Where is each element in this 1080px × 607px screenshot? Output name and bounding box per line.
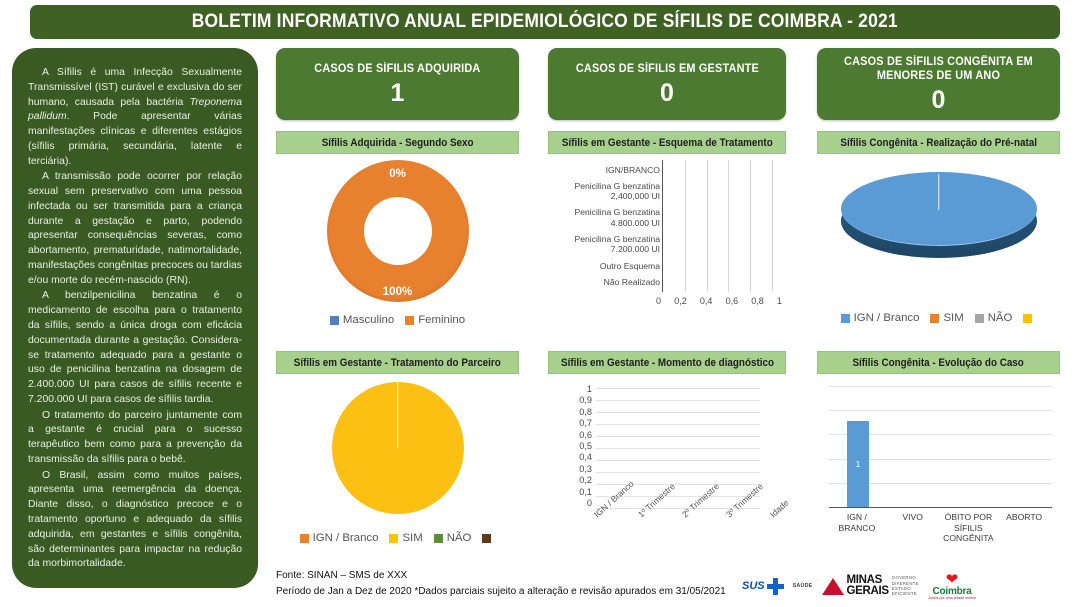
bar-chart: 1 IGN / BRANCO VIVO ÓBITO POR SÍFILIS CO… [817,378,1060,556]
sidebar-paragraph-1-text: A Sífilis é uma Infecção Sexualmente Tra… [28,67,242,167]
gridline [596,472,760,473]
chart-adquirida-segundo-sexo: 0% 100% Masculino Feminino [276,158,519,344]
governo-line2: DIFERENTE [892,581,919,586]
category-axis: IGN/BRANCO Penicilina G benzatina 2,400,… [548,162,660,290]
chart-gestante-tratamento-parceiro: IGN / Branco SIM NÃO [276,378,519,560]
panel-title-congenita-prenatal: Sífilis Congênita - Realização do Pré-na… [817,131,1060,154]
panel-title-adquirida-sexo: Sífilis Adquirida - Segundo Sexo [276,131,519,154]
dashboard-page: BOLETIM INFORMATIVO ANUAL EPIDEMIOLÓGICO… [0,0,1080,607]
y-tick: 1 [587,384,592,394]
medical-cross-icon [767,578,784,595]
legend-item-sim: SIM [930,312,963,324]
sidebar-paragraph-2: A transmissão pode ocorrer por relação s… [28,170,242,288]
x-tick: 0,2 [674,296,687,306]
pie-3d-chart [817,158,1060,308]
chart-legend: Masculino Feminino [276,314,519,326]
x-tick: 0 [656,296,661,306]
minas-gerais-text: MINAS GERAIS [847,575,889,597]
pie-chart [276,378,519,528]
kpi-card-sifilis-congenita: CASOS DE SÍFILIS CONGÊNITA EM MENORES DE… [817,48,1060,120]
plot-area: 1 [829,386,1052,508]
panel-title-text: Sífilis em Gestante - Momento de diagnós… [561,357,774,369]
gridline [596,400,760,401]
legend-swatch-icon [841,314,850,323]
heart-icon: ❤ [928,572,976,587]
gridline [596,412,760,413]
category-label: Não Realizado [548,277,660,287]
kpi-label: CASOS DE SÍFILIS ADQUIRIDA [314,62,480,76]
y-tick: 0,8 [579,407,592,417]
category-label: Outro Esquema [548,261,660,271]
y-tick: 0,7 [579,418,592,428]
gridline [596,448,760,449]
chart-legend: IGN / Branco SIM NÃO [817,312,1060,324]
page-header: BOLETIM INFORMATIVO ANUAL EPIDEMIOLÓGICO… [30,5,1060,39]
y-tick: 0,4 [579,452,592,462]
chart-congenita-evolucao-caso: 1 IGN / BRANCO VIVO ÓBITO POR SÍFILIS CO… [817,378,1060,560]
governo-slogan: GOVERNO DIFERENTE ESTADO EFICIENTE [892,575,919,596]
legend-label: SIM [402,532,422,544]
coimbra-logo: ❤ Coimbra Juntos por uma cidade melhor [928,572,976,601]
legend-item-ign-branco: IGN / Branco [841,312,920,324]
gridline [685,160,686,292]
minas-gerais-logo: MINAS GERAIS GOVERNO DIFERENTE ESTADO EF… [822,575,919,597]
x-tick: 1 [777,296,782,306]
info-sidebar: A Sífilis é uma Infecção Sexualmente Tra… [12,48,258,588]
legend-item-feminino: Feminino [405,314,465,326]
sidebar-paragraph-3: A benzilpenicilina benzatina é o medicam… [28,289,242,407]
gridline [829,386,1052,387]
y-tick: 0,9 [579,395,592,405]
legend-label: NÃO [988,312,1013,324]
panel-title-gestante-momento: Sífilis em Gestante - Momento de diagnós… [548,351,786,374]
donut-label-masculino: 0% [389,168,406,180]
legend-item-extra [1023,314,1036,323]
category-label: IGN/BRANCO [548,165,660,175]
panel-title-text: Sífilis em Gestante - Esquema de Tratame… [562,137,773,149]
kpi-value: 0 [660,81,674,106]
x-label: ABORTO [996,512,1052,544]
legend-swatch-icon [482,534,491,543]
kpi-value: 0 [932,88,946,113]
gridline [596,460,760,461]
sus-logo-text: SUS [742,580,765,592]
donut-chart: 0% 100% [276,158,519,310]
legend-item-nao: NÃO [434,532,472,544]
x-tick: 0,8 [751,296,764,306]
legend-swatch-icon [1023,314,1032,323]
chart-legend: IGN / Branco SIM NÃO [276,532,519,544]
footer-logos: SUS SAÚDE MINAS GERAIS GOVERNO DIFERENTE… [742,570,1062,602]
y-tick: 0,2 [579,475,592,485]
panel-title-text: Sífilis Congênita - Evolução do Caso [853,357,1024,369]
legend-item-ign-branco: IGN / Branco [300,532,379,544]
legend-swatch-icon [389,534,398,543]
legend-label: Masculino [343,314,394,326]
legend-swatch-icon [434,534,443,543]
kpi-value: 1 [391,81,405,106]
footer: Fonte: SINAN – SMS de XXX Período de Jan… [276,568,726,599]
donut-label-feminino: 100% [383,286,412,298]
gridline [596,388,760,389]
x-label: Idade [768,498,791,520]
legend-item-extra [482,534,495,543]
y-tick: 0,6 [579,430,592,440]
gridline [596,424,760,425]
y-tick: 0 [587,498,592,508]
legend-swatch-icon [405,316,414,325]
pie-start-line [397,382,399,448]
legend-item-masculino: Masculino [330,314,394,326]
governo-line3: ESTADO [892,586,911,591]
chart-congenita-pre-natal: IGN / Branco SIM NÃO [817,158,1060,344]
gridline [596,436,760,437]
legend-label: Feminino [418,314,465,326]
donut-slice-feminino [327,160,469,302]
legend-item-nao: NÃO [975,312,1013,324]
saude-label: SAÚDE [793,583,813,589]
x-label: IGN / BRANCO [829,512,885,544]
sus-logo: SUS [742,578,784,595]
panel-title-gestante-parceiro: Sífilis em Gestante - Tratamento do Parc… [276,351,519,374]
triangle-icon [822,578,844,595]
panel-title-text: Sífilis Congênita - Realização do Pré-na… [840,137,1037,149]
y-axis-ticks: 1 0,9 0,8 0,7 0,6 0,5 0,4 0,3 0,2 0,1 0 [566,384,592,508]
bar-ign-branco: 1 [847,421,869,507]
pie-3d-start-line [938,174,940,210]
plot-area [662,160,772,292]
legend-label: IGN / Branco [854,312,920,324]
y-tick: 0,1 [579,487,592,497]
gridline [728,160,729,292]
category-label: Penicilina G benzatina 7.200.000 UI [548,234,660,255]
kpi-label: CASOS DE SÍFILIS CONGÊNITA EM MENORES DE… [828,55,1049,84]
panel-title-text: Sífilis em Gestante - Tratamento do Parc… [294,357,501,369]
x-tick: 0,4 [700,296,713,306]
x-label: ÓBITO POR SÍFILIS CONGÊNITA [941,512,997,544]
legend-swatch-icon [930,314,939,323]
x-axis-labels: IGN / BRANCO VIVO ÓBITO POR SÍFILIS CONG… [829,512,1052,544]
x-tick: 0,6 [726,296,739,306]
legend-label: IGN / Branco [313,532,379,544]
legend-swatch-icon [300,534,309,543]
footer-source: Fonte: SINAN – SMS de XXX [276,568,726,584]
coimbra-slogan: Juntos por uma cidade melhor [928,597,976,601]
governo-line1: GOVERNO [892,575,916,580]
legend-swatch-icon [975,314,984,323]
footer-period: Período de Jan a Dez de 2020 *Dados parc… [276,584,726,600]
kpi-label: CASOS DE SÍFILIS EM GESTANTE [575,62,758,76]
gridline [829,410,1052,411]
sidebar-paragraph-1: A Sífilis é uma Infecção Sexualmente Tra… [28,66,242,169]
gridline [707,160,708,292]
y-tick: 0,5 [579,441,592,451]
gridline [772,160,773,292]
panel-title-gestante-esquema: Sífilis em Gestante - Esquema de Tratame… [548,131,786,154]
legend-label: SIM [943,312,963,324]
kpi-card-sifilis-gestante: CASOS DE SÍFILIS EM GESTANTE 0 [548,48,786,120]
minas-line2: GERAIS [847,585,889,597]
y-tick: 0,3 [579,464,592,474]
donut-hole [364,197,432,265]
category-label: Penicilina G benzatina 2,400,000 UI [548,181,660,202]
legend-swatch-icon [330,316,339,325]
panel-title-congenita-evolucao: Sífilis Congênita - Evolução do Caso [817,351,1060,374]
page-title: BOLETIM INFORMATIVO ANUAL EPIDEMIOLÓGICO… [192,11,898,33]
legend-item-sim: SIM [389,532,422,544]
x-axis-ticks: 0 0,2 0,4 0,6 0,8 1 [654,296,782,306]
sidebar-paragraph-5: O Brasil, assim como muitos países, apre… [28,469,242,572]
governo-line4: EFICIENTE [892,591,917,596]
x-axis-labels: IGN / Branco 1º Trimestre 2º Trimestre 3… [592,510,776,554]
bar-value-label: 1 [856,459,861,469]
legend-label: NÃO [447,532,472,544]
category-label: Penicilina G benzatina 4.800.000 UI [548,207,660,228]
chart-gestante-esquema-tratamento: IGN/BRANCO Penicilina G benzatina 2,400,… [548,158,786,344]
kpi-card-sifilis-adquirida: CASOS DE SÍFILIS ADQUIRIDA 1 [276,48,519,120]
gridline [750,160,751,292]
x-label: VIVO [885,512,941,544]
chart-gestante-momento-diagnostico: 1 0,9 0,8 0,7 0,6 0,5 0,4 0,3 0,2 0,1 0 [548,378,786,560]
column-chart: 1 0,9 0,8 0,7 0,6 0,5 0,4 0,3 0,2 0,1 0 [548,378,786,556]
horizontal-bar-chart: IGN/BRANCO Penicilina G benzatina 2,400,… [548,158,786,316]
sidebar-paragraph-4: O tratamento do parceiro juntamente com … [28,409,242,468]
panel-title-text: Sífilis Adquirida - Segundo Sexo [322,137,474,149]
